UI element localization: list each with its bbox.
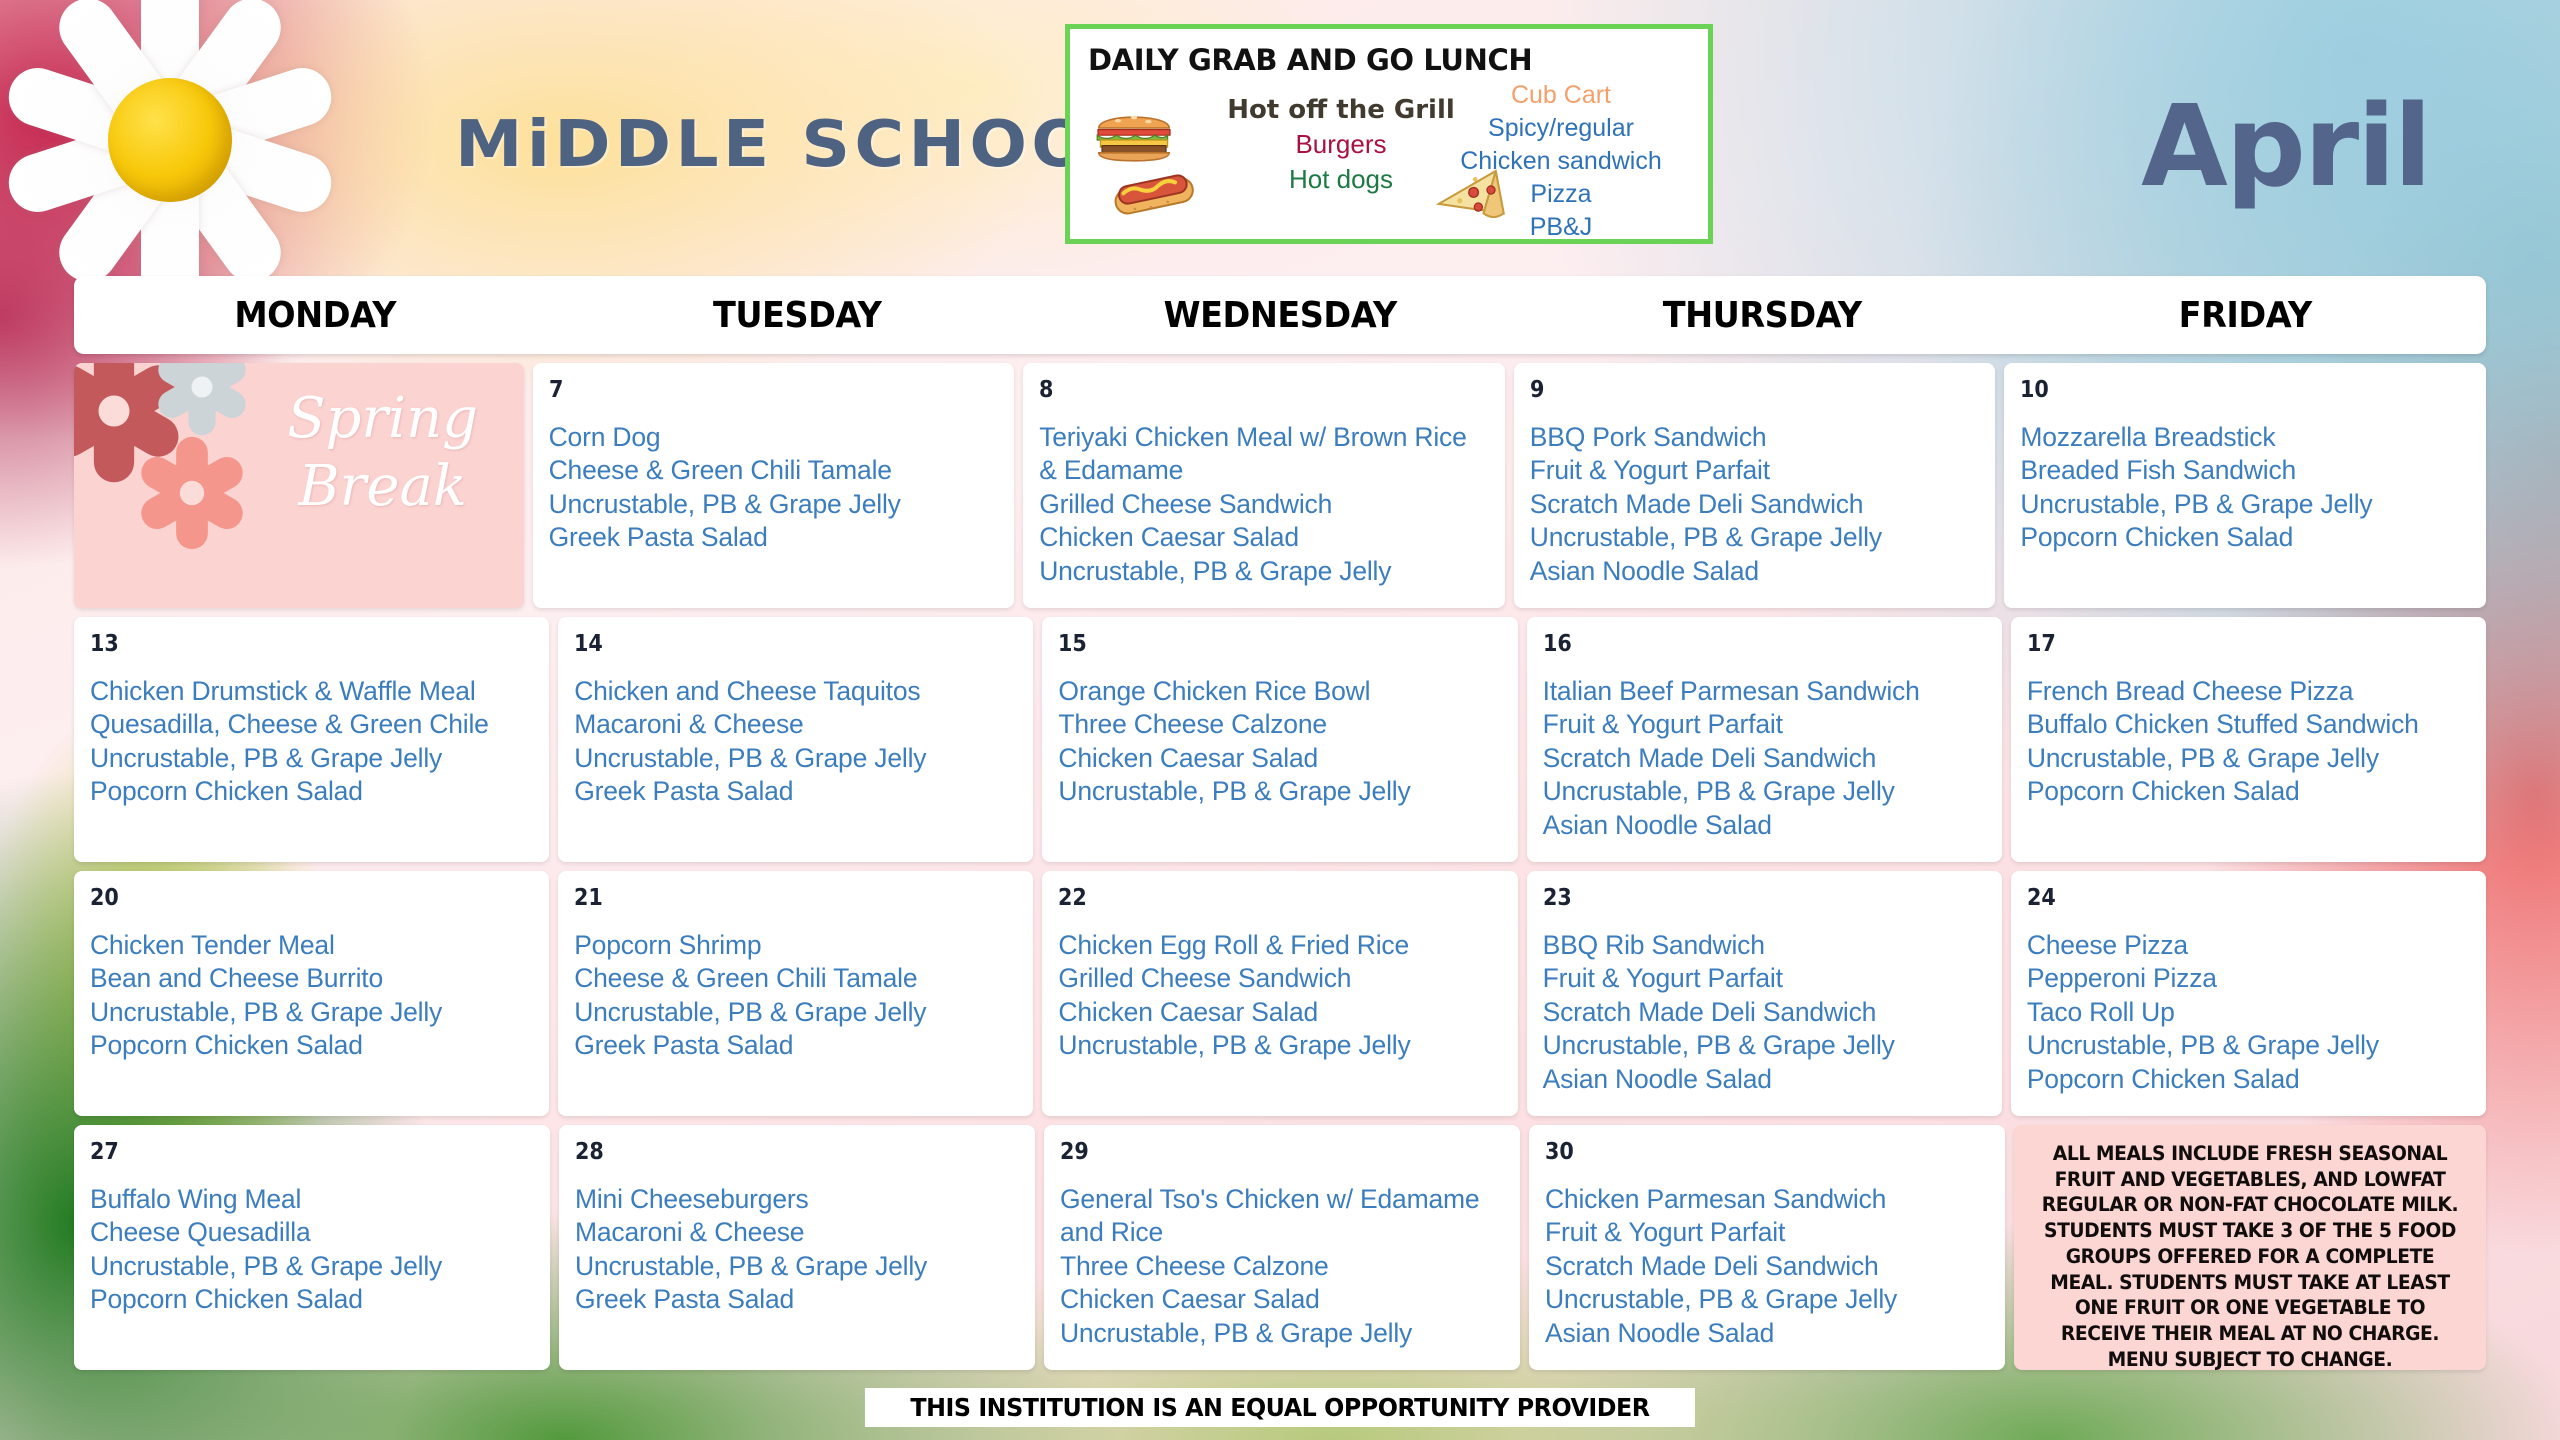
menu-item: Mozzarella Breadstick: [2020, 421, 2470, 454]
menu-poster: MiDDLE SCHOOL April DAILY GRAB AND GO LU…: [0, 0, 2560, 1440]
menu-item: Chicken Caesar Salad: [1058, 742, 1501, 775]
calendar-cell-tuesday-14: 14Chicken and Cheese TaquitosMacaroni & …: [558, 617, 1033, 862]
menu-item: Bean and Cheese Burrito: [90, 962, 533, 995]
page-title: MiDDLE SCHOOL: [455, 108, 1141, 182]
menu-item: Uncrustable, PB & Grape Jelly: [1545, 1283, 1989, 1316]
menu-item: Orange Chicken Rice Bowl: [1058, 675, 1501, 708]
menu-item: Uncrustable, PB & Grape Jelly: [574, 742, 1017, 775]
menu-item: Macaroni & Cheese: [574, 708, 1017, 741]
menu-item-list: General Tso's Chicken w/ Edamame and Ric…: [1060, 1183, 1504, 1350]
menu-item: Corn Dog: [549, 421, 999, 454]
menu-item: Chicken Drumstick & Waffle Meal: [90, 675, 533, 708]
menu-item: Breaded Fish Sandwich: [2020, 454, 2470, 487]
calendar-cell-friday-17: 17French Bread Cheese PizzaBuffalo Chick…: [2011, 617, 2486, 862]
menu-item: Scratch Made Deli Sandwich: [1543, 996, 1986, 1029]
day-number: 23: [1543, 885, 1942, 911]
menu-item: Uncrustable, PB & Grape Jelly: [2027, 742, 2470, 775]
menu-item: Popcorn Chicken Salad: [2027, 775, 2470, 808]
calendar-cell-tuesday-7: 7Corn DogCheese & Green Chili TamaleUncr…: [533, 363, 1015, 608]
menu-item: Pepperoni Pizza: [2027, 962, 2470, 995]
menu-item: BBQ Pork Sandwich: [1530, 421, 1980, 454]
menu-item-list: Chicken Parmesan SandwichFruit & Yogurt …: [1545, 1183, 1989, 1350]
menu-item: Quesadilla, Cheese & Green Chile: [90, 708, 533, 741]
menu-item-list: Teriyaki Chicken Meal w/ Brown Rice & Ed…: [1039, 421, 1489, 588]
menu-item: Grilled Cheese Sandwich: [1039, 488, 1489, 521]
menu-item: Buffalo Wing Meal: [90, 1183, 534, 1216]
day-number: 27: [90, 1139, 490, 1165]
calendar-week-row: 13Chicken Drumstick & Waffle MealQuesadi…: [74, 617, 2486, 862]
menu-item: Cheese Quesadilla: [90, 1216, 534, 1249]
calendar-cell-thursday-9: 9BBQ Pork SandwichFruit & Yogurt Parfait…: [1514, 363, 1996, 608]
equal-opportunity-banner: THIS INSTITUTION IS AN EQUAL OPPORTUNITY…: [865, 1388, 1695, 1427]
menu-item-list: Buffalo Wing MealCheese QuesadillaUncrus…: [90, 1183, 534, 1317]
menu-item: Chicken Egg Roll & Fried Rice: [1058, 929, 1501, 962]
menu-item: Chicken and Cheese Taquitos: [574, 675, 1017, 708]
day-header-tuesday: TUESDAY: [573, 295, 1022, 336]
menu-item: Uncrustable, PB & Grape Jelly: [90, 742, 533, 775]
menu-item: Uncrustable, PB & Grape Jelly: [1058, 775, 1501, 808]
menu-item: Grilled Cheese Sandwich: [1058, 962, 1501, 995]
day-number: 13: [90, 631, 489, 657]
calendar-cell-thursday-23: 23BBQ Rib SandwichFruit & Yogurt Parfait…: [1527, 871, 2002, 1116]
menu-item: Fruit & Yogurt Parfait: [1543, 962, 1986, 995]
menu-item-list: Mozzarella BreadstickBreaded Fish Sandwi…: [2020, 421, 2470, 555]
menu-item: Fruit & Yogurt Parfait: [1543, 708, 1986, 741]
daisy-center: [108, 78, 232, 202]
day-number: 9: [1530, 377, 1935, 403]
menu-item: BBQ Rib Sandwich: [1543, 929, 1986, 962]
calendar-week-row: 27Buffalo Wing MealCheese QuesadillaUncr…: [74, 1125, 2486, 1370]
day-number: 28: [575, 1139, 975, 1165]
menu-item: Cheese & Green Chili Tamale: [574, 962, 1017, 995]
menu-item: French Bread Cheese Pizza: [2027, 675, 2470, 708]
day-number: 16: [1543, 631, 1942, 657]
calendar-cell-thursday-30: 30Chicken Parmesan SandwichFruit & Yogur…: [1529, 1125, 2005, 1370]
menu-item: Uncrustable, PB & Grape Jelly: [1543, 1029, 1986, 1062]
calendar-cell-tuesday-28: 28Mini CheeseburgersMacaroni & CheeseUnc…: [559, 1125, 1035, 1370]
menu-item-list: Mini CheeseburgersMacaroni & CheeseUncru…: [575, 1183, 1019, 1317]
menu-item: Chicken Tender Meal: [90, 929, 533, 962]
day-header-thursday: THURSDAY: [1538, 295, 1987, 336]
daily-grab-and-go-box: DAILY GRAB AND GO LUNCH: [1065, 24, 1713, 244]
menu-item: Fruit & Yogurt Parfait: [1530, 454, 1980, 487]
menu-item: Scratch Made Deli Sandwich: [1543, 742, 1986, 775]
menu-item-list: Chicken Drumstick & Waffle MealQuesadill…: [90, 675, 533, 809]
calendar-cell-friday-24: 24Cheese PizzaPepperoni PizzaTaco Roll U…: [2011, 871, 2486, 1116]
menu-item: Three Cheese Calzone: [1058, 708, 1501, 741]
menu-item: Three Cheese Calzone: [1060, 1250, 1504, 1283]
menu-item: Popcorn Shrimp: [574, 929, 1017, 962]
calendar-cell-friday-10: 10Mozzarella BreadstickBreaded Fish Sand…: [2004, 363, 2486, 608]
cub-cart-item-spicy-regular: Spicy/regular: [1436, 114, 1686, 143]
menu-item: Popcorn Chicken Salad: [2027, 1063, 2470, 1096]
day-number: 10: [2020, 377, 2425, 403]
menu-item: Greek Pasta Salad: [549, 521, 999, 554]
calendar-cell-monday-20: 20Chicken Tender MealBean and Cheese Bur…: [74, 871, 549, 1116]
menu-item: Greek Pasta Salad: [574, 775, 1017, 808]
menu-item: Uncrustable, PB & Grape Jelly: [1530, 521, 1980, 554]
menu-item: Uncrustable, PB & Grape Jelly: [2027, 1029, 2470, 1062]
menu-item: Asian Noodle Salad: [1543, 809, 1986, 842]
calendar-day-header-row: MONDAY TUESDAY WEDNESDAY THURSDAY FRIDAY: [74, 276, 2486, 354]
day-number: 17: [2027, 631, 2426, 657]
menu-item: Cheese & Green Chili Tamale: [549, 454, 999, 487]
menu-item: Popcorn Chicken Salad: [90, 1283, 534, 1316]
day-number: 30: [1545, 1139, 1945, 1165]
burger-icon: [1094, 107, 1174, 165]
day-number: 8: [1039, 377, 1444, 403]
day-number: 15: [1058, 631, 1457, 657]
menu-item: Mini Cheeseburgers: [575, 1183, 1019, 1216]
grab-and-go-title: DAILY GRAB AND GO LUNCH: [1088, 43, 1690, 77]
menu-item: Italian Beef Parmesan Sandwich: [1543, 675, 1986, 708]
menu-item: Uncrustable, PB & Grape Jelly: [2020, 488, 2470, 521]
month-label: April: [2141, 82, 2430, 212]
menu-item: Scratch Made Deli Sandwich: [1530, 488, 1980, 521]
menu-item-list: Chicken Egg Roll & Fried RiceGrilled Che…: [1058, 929, 1501, 1063]
menu-item: Uncrustable, PB & Grape Jelly: [90, 1250, 534, 1283]
calendar-cell-spring-break: SpringBreak: [74, 363, 524, 608]
menu-item: Chicken Caesar Salad: [1060, 1283, 1504, 1316]
menu-item: Taco Roll Up: [2027, 996, 2470, 1029]
equal-opportunity-text: THIS INSTITUTION IS AN EQUAL OPPORTUNITY…: [910, 1393, 1649, 1422]
menu-item-list: Orange Chicken Rice BowlThree Cheese Cal…: [1058, 675, 1501, 809]
menu-item: Greek Pasta Salad: [574, 1029, 1017, 1062]
menu-item-list: Chicken and Cheese TaquitosMacaroni & Ch…: [574, 675, 1017, 809]
day-header-friday: FRIDAY: [2021, 295, 2470, 336]
menu-item-list: BBQ Rib SandwichFruit & Yogurt ParfaitSc…: [1543, 929, 1986, 1096]
calendar-cell-wednesday-22: 22Chicken Egg Roll & Fried RiceGrilled C…: [1042, 871, 1517, 1116]
menu-item: Popcorn Chicken Salad: [90, 775, 533, 808]
menu-item: Chicken Caesar Salad: [1039, 521, 1489, 554]
calendar-cell-wednesday-15: 15Orange Chicken Rice BowlThree Cheese C…: [1042, 617, 1517, 862]
menu-item: Scratch Made Deli Sandwich: [1545, 1250, 1989, 1283]
menu-item: Buffalo Chicken Stuffed Sandwich: [2027, 708, 2470, 741]
calendar-cell-thursday-16: 16Italian Beef Parmesan SandwichFruit & …: [1527, 617, 2002, 862]
disclaimer-text: ALL MEALS INCLUDE FRESH SEASONAL FRUIT A…: [2037, 1141, 2463, 1370]
menu-item-list: Chicken Tender MealBean and Cheese Burri…: [90, 929, 533, 1063]
calendar-cell-wednesday-8: 8Teriyaki Chicken Meal w/ Brown Rice & E…: [1023, 363, 1505, 608]
menu-item: Uncrustable, PB & Grape Jelly: [549, 488, 999, 521]
menu-item-list: Cheese PizzaPepperoni PizzaTaco Roll UpU…: [2027, 929, 2470, 1096]
calendar-weeks: SpringBreak7Corn DogCheese & Green Chili…: [74, 363, 2486, 1370]
calendar-week-row: 20Chicken Tender MealBean and Cheese Bur…: [74, 871, 2486, 1116]
day-number: 22: [1058, 885, 1457, 911]
menu-item: General Tso's Chicken w/ Edamame and Ric…: [1060, 1183, 1504, 1250]
cub-cart-item-pizza: Pizza: [1436, 180, 1686, 209]
menu-item: Uncrustable, PB & Grape Jelly: [1058, 1029, 1501, 1062]
cub-cart-heading: Cub Cart: [1436, 81, 1686, 110]
menu-item: Uncrustable, PB & Grape Jelly: [90, 996, 533, 1029]
menu-item: Chicken Parmesan Sandwich: [1545, 1183, 1989, 1216]
menu-item-list: Corn DogCheese & Green Chili TamaleUncru…: [549, 421, 999, 555]
day-number: 21: [574, 885, 973, 911]
day-header-wednesday: WEDNESDAY: [1056, 295, 1505, 336]
calendar-cell-monday-27: 27Buffalo Wing MealCheese QuesadillaUncr…: [74, 1125, 550, 1370]
menu-item: Cheese Pizza: [2027, 929, 2470, 962]
menu-item: Popcorn Chicken Salad: [2020, 521, 2470, 554]
cub-cart-item-chicken-sandwich: Chicken sandwich: [1436, 147, 1686, 176]
menu-item: Chicken Caesar Salad: [1058, 996, 1501, 1029]
spring-break-label: SpringBreak: [268, 385, 498, 522]
day-number: 24: [2027, 885, 2426, 911]
hotdog-icon: [1110, 169, 1198, 221]
menu-item: Uncrustable, PB & Grape Jelly: [575, 1250, 1019, 1283]
cub-cart-group: Cub Cart Spicy/regular Chicken sandwich …: [1436, 81, 1686, 242]
menu-item: Teriyaki Chicken Meal w/ Brown Rice & Ed…: [1039, 421, 1489, 488]
calendar-cell-wednesday-29: 29General Tso's Chicken w/ Edamame and R…: [1044, 1125, 1520, 1370]
menu-item: Fruit & Yogurt Parfait: [1545, 1216, 1989, 1249]
calendar-cell-tuesday-21: 21Popcorn ShrimpCheese & Green Chili Tam…: [558, 871, 1033, 1116]
calendar-cell-monday-13: 13Chicken Drumstick & Waffle MealQuesadi…: [74, 617, 549, 862]
day-number: 14: [574, 631, 973, 657]
menu-item-list: Italian Beef Parmesan SandwichFruit & Yo…: [1543, 675, 1986, 842]
menu-item-list: French Bread Cheese PizzaBuffalo Chicken…: [2027, 675, 2470, 809]
menu-item-list: BBQ Pork SandwichFruit & Yogurt ParfaitS…: [1530, 421, 1980, 588]
menu-item-list: Popcorn ShrimpCheese & Green Chili Tamal…: [574, 929, 1017, 1063]
calendar-cell-disclaimer: ALL MEALS INCLUDE FRESH SEASONAL FRUIT A…: [2014, 1125, 2486, 1370]
menu-item: Uncrustable, PB & Grape Jelly: [1039, 555, 1489, 588]
menu-item: Asian Noodle Salad: [1545, 1317, 1989, 1350]
day-header-monday: MONDAY: [91, 295, 540, 336]
menu-item: Macaroni & Cheese: [575, 1216, 1019, 1249]
menu-item: Greek Pasta Salad: [575, 1283, 1019, 1316]
day-number: 29: [1060, 1139, 1460, 1165]
menu-item: Popcorn Chicken Salad: [90, 1029, 533, 1062]
menu-item: Uncrustable, PB & Grape Jelly: [574, 996, 1017, 1029]
menu-item: Asian Noodle Salad: [1543, 1063, 1986, 1096]
day-number: 7: [549, 377, 954, 403]
cub-cart-item-pbj: PB&J: [1436, 213, 1686, 242]
menu-item: Uncrustable, PB & Grape Jelly: [1543, 775, 1986, 808]
day-number: 20: [90, 885, 489, 911]
calendar-week-row: SpringBreak7Corn DogCheese & Green Chili…: [74, 363, 2486, 608]
menu-item: Asian Noodle Salad: [1530, 555, 1980, 588]
menu-calendar: MONDAY TUESDAY WEDNESDAY THURSDAY FRIDAY…: [74, 276, 2486, 1379]
menu-item: Uncrustable, PB & Grape Jelly: [1060, 1317, 1504, 1350]
